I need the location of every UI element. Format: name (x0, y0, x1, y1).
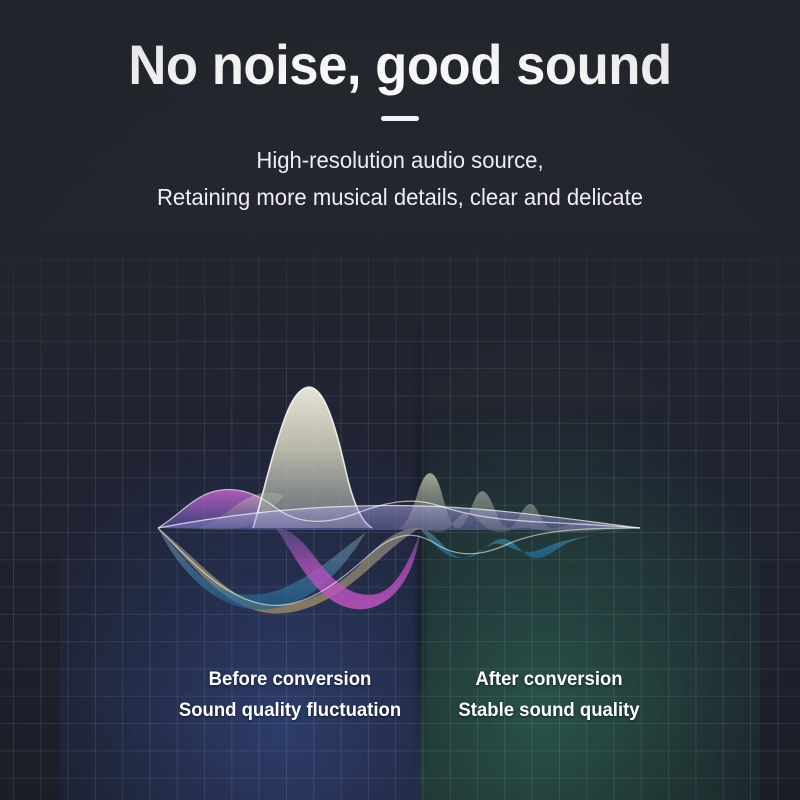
subtitle-line-1: High-resolution audio source, (16, 142, 784, 179)
wave-teal-ripples-right (420, 528, 640, 558)
caption-after-line-2: Stable sound quality (444, 695, 655, 726)
subtitle-line-2: Retaining more musical details, clear an… (16, 179, 784, 216)
title-divider-dash (381, 116, 419, 121)
caption-before-line-2: Sound quality fluctuation (157, 695, 423, 726)
caption-before-line-1: Before conversion (157, 664, 423, 695)
subtitle-block: High-resolution audio source, Retaining … (16, 142, 784, 216)
page-title: No noise, good sound (24, 0, 776, 96)
caption-after-line-1: After conversion (444, 664, 655, 695)
promo-image-root: No noise, good sound High-resolution aud… (0, 0, 800, 800)
header-block: No noise, good sound High-resolution aud… (0, 0, 800, 216)
caption-before-conversion: Before conversion Sound quality fluctuat… (157, 664, 423, 726)
caption-after-conversion: After conversion Stable sound quality (444, 664, 655, 726)
